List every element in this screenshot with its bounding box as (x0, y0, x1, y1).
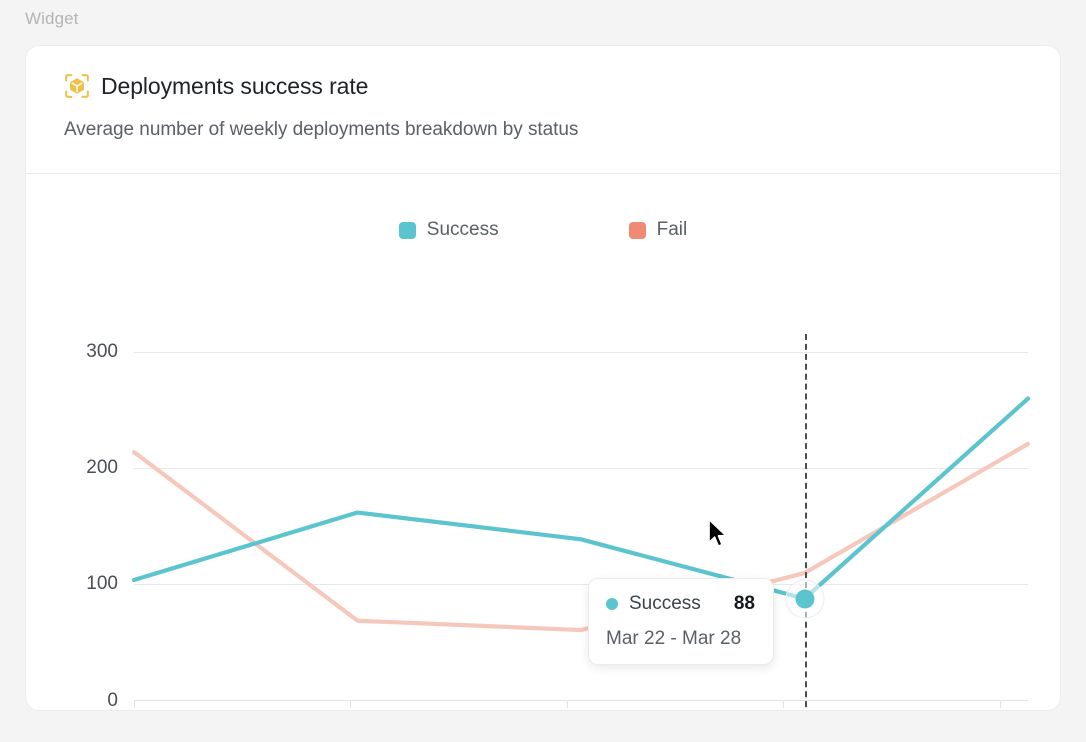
legend-item-fail[interactable]: Fail (629, 219, 688, 241)
series-lines (134, 352, 1028, 701)
chart-legend: Success Fail (26, 219, 1060, 241)
line-series-success (134, 399, 1028, 599)
legend-swatch-fail (629, 222, 646, 239)
y-tick-label-300: 300 (86, 341, 118, 363)
tooltip-series-dot-icon (606, 598, 618, 610)
chart-tooltip: Success 88 Mar 22 - Mar 28 (588, 578, 774, 665)
legend-label-fail: Fail (657, 219, 688, 241)
widget-card: Deployments success rate Average number … (25, 45, 1061, 711)
legend-swatch-success (399, 222, 416, 239)
legend-label-success: Success (427, 219, 499, 241)
tooltip-series-value: 88 (716, 593, 755, 615)
cursor-crosshair-line (805, 334, 807, 711)
line-series-fail (134, 444, 1028, 630)
card-title-row: Deployments success rate (64, 72, 1022, 100)
y-tick-label-100: 100 (86, 573, 118, 595)
tooltip-series-name: Success (629, 593, 701, 615)
active-data-point[interactable] (795, 589, 814, 608)
screen-root: Widget Depl (0, 0, 1086, 742)
chart-body: Success Fail 0 100 200 300 (26, 174, 1060, 710)
widget-label: Widget (25, 8, 79, 30)
tooltip-date-range: Mar 22 - Mar 28 (606, 628, 755, 650)
y-tick-label-0: 0 (107, 690, 118, 711)
legend-item-success[interactable]: Success (399, 219, 499, 241)
cube-scan-icon (64, 73, 90, 99)
x-tick-mar-29 (1000, 701, 1001, 708)
tooltip-series-row: Success 88 (606, 593, 755, 615)
x-tick-mar-15 (567, 701, 568, 708)
x-tick-mar-1 (134, 701, 135, 708)
card-subtitle: Average number of weekly deployments bre… (64, 118, 1022, 142)
y-tick-label-200: 200 (86, 457, 118, 479)
plot-area: 0 100 200 300 Mar 1 Mar 8 Mar 15 Mar 22 … (134, 352, 1028, 701)
page-title: Deployments success rate (101, 72, 368, 100)
x-tick-mar-8 (350, 701, 351, 708)
card-header: Deployments success rate Average number … (26, 46, 1060, 174)
x-tick-mar-22 (783, 701, 784, 708)
